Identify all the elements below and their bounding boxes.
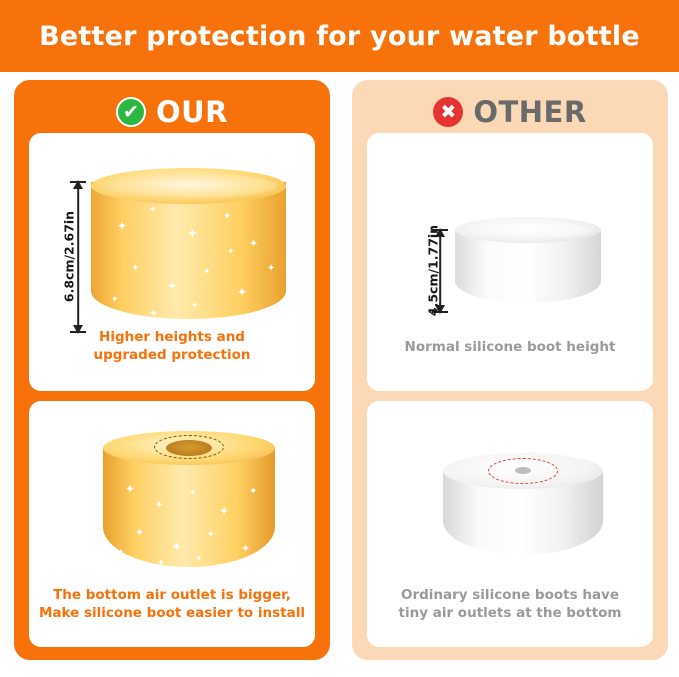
caption-other-outlet-line1: Ordinary silicone boots have [375,587,645,605]
silicone-boot-tall-graphic: ✦ ✦ ✦ ✦ ✦ ✦ ✦ ✦ ✦ ✦ ✦ ✦ ✦ ✦ [91,168,286,333]
column-our: ✔ OUR ✦ ✦ ✦ ✦ ✦ ✦ ✦ ✦ ✦ ✦ [14,80,330,660]
page-title: Better protection for your water bottle [39,21,640,52]
silicone-boot-short-graphic [455,217,601,313]
column-our-header: ✔ OUR [17,89,327,135]
comparison-infographic: Better protection for your water bottle … [0,0,679,677]
column-our-label: OUR [156,95,228,129]
caption-our-height-line2: upgraded protection [37,347,307,365]
caption-other-height-line1: Normal silicone boot height [375,339,645,357]
cross-circle-icon: ✖ [433,97,463,127]
check-circle-icon: ✔ [116,97,146,127]
dimension-label-our: 6.8cm/2.67in [62,197,77,317]
air-outlet-hole [515,467,531,474]
silicone-boot-other-outlet-graphic [443,453,603,571]
silicone-boot-outlet-graphic: ✦ ✦ ✦ ✦ ✦ ✦ ✦ ✦ ✦ ✦ ✦ ✦ [103,431,275,581]
column-other: ✖ OTHER 4.5cm/1.77in No [352,80,668,660]
caption-our-outlet-line1: The bottom air outlet is bigger, [37,587,307,605]
caption-our-height-line1: Higher heights and [37,329,307,347]
column-other-label: OTHER [473,95,586,129]
header-banner: Better protection for your water bottle [0,0,679,72]
caption-other-outlet-line2: tiny air outlets at the bottom [375,605,645,623]
card-our-outlet: ✦ ✦ ✦ ✦ ✦ ✦ ✦ ✦ ✦ ✦ ✦ ✦ The bottom air o… [29,401,315,647]
card-other-height: 4.5cm/1.77in Normal silicone boot height [367,133,653,391]
column-other-header: ✖ OTHER [355,89,665,135]
air-outlet-hole [166,440,212,456]
dimension-label-other: 4.5cm/1.77in [426,213,441,329]
card-our-height: ✦ ✦ ✦ ✦ ✦ ✦ ✦ ✦ ✦ ✦ ✦ ✦ ✦ ✦ [29,133,315,391]
card-other-outlet: Ordinary silicone boots have tiny air ou… [367,401,653,647]
caption-our-outlet-line2: Make silicone boot easier to install [37,605,307,623]
